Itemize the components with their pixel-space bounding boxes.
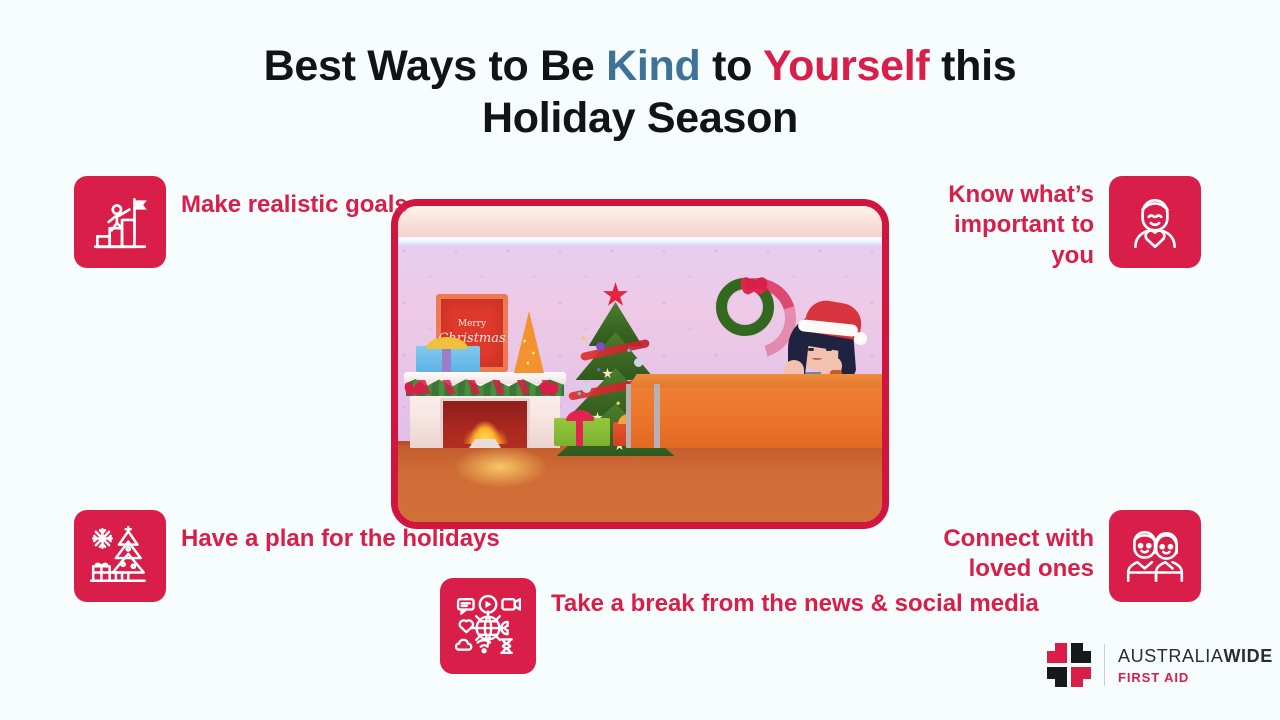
fireplace (410, 370, 560, 448)
logo-quadrant-bottom-left (1047, 667, 1067, 687)
tip-label: Connect with loved ones (912, 510, 1094, 585)
santa-hat-pompom (854, 332, 867, 345)
logo-name-part-2: WIDE (1223, 646, 1272, 666)
title-line-1: Best Ways to Be Kind to Yourself this (0, 40, 1280, 92)
title-highlight-kind: Kind (606, 42, 700, 90)
orange-desk (626, 374, 889, 448)
gift-band (442, 346, 451, 372)
logo-divider (1104, 644, 1105, 686)
logo-company-name: AUSTRALIAWIDE (1118, 646, 1273, 667)
firelight-glow (453, 446, 548, 488)
christmas-illustration: Merry Christmas (391, 199, 889, 529)
frame-text-line-1: Merry (458, 319, 486, 330)
tree-ornament (582, 384, 591, 393)
tip-have-a-plan[interactable]: Have a plan for the holidays (74, 510, 500, 602)
person-holding-heart-icon (1109, 176, 1201, 268)
logo-wordmark: AUSTRALIAWIDE FIRST AID (1118, 646, 1273, 685)
tree-ornament (634, 358, 643, 367)
woman-eye-left (808, 348, 814, 351)
tip-label: Take a break from the news & social medi… (551, 578, 1039, 619)
tip-label: Have a plan for the holidays (181, 510, 500, 554)
ceiling (398, 206, 882, 237)
logo-tagline: FIRST AID (1118, 670, 1273, 685)
logo-quadrant-top-left (1047, 643, 1067, 663)
title-text-b: to (700, 42, 763, 90)
decorative-cone-tree (514, 311, 544, 373)
fireplace-opening (440, 398, 530, 448)
illustration-scene: Merry Christmas (398, 206, 882, 522)
christmas-tree-gifts-snowflake-icon (74, 510, 166, 602)
person-climbing-stairs-with-flag-icon (74, 176, 166, 268)
title-text-a: Best Ways to Be (264, 42, 606, 90)
australia-wide-first-aid-logo[interactable]: AUSTRALIAWIDE FIRST AID (1047, 643, 1273, 687)
wreath-bow (741, 277, 767, 294)
tree-ornament (596, 342, 605, 351)
logo-quadrant-bottom-right (1071, 667, 1091, 687)
woman-mouth (812, 356, 822, 360)
page-title: Best Ways to Be Kind to Yourself this Ho… (0, 40, 1280, 145)
tip-take-a-break[interactable]: Take a break from the news & social medi… (440, 578, 1039, 674)
blue-gift-on-mantel (416, 346, 480, 372)
tip-label: Make realistic goals (181, 176, 408, 220)
logo-name-part-1: AUSTRALIA (1118, 646, 1223, 666)
christmas-wreath (716, 278, 774, 336)
title-text-c: this (929, 42, 1016, 90)
desk-edge-inner (654, 384, 660, 448)
social-media-network-globe-icon (440, 578, 536, 674)
cornice-molding (398, 237, 882, 245)
fire-flames (458, 404, 512, 444)
garland-bow-right (540, 382, 558, 395)
gift-band (576, 418, 583, 446)
title-line-2: Holiday Season (0, 92, 1280, 144)
title-highlight-yourself: Yourself (763, 42, 929, 90)
two-people-icon (1109, 510, 1201, 602)
desk-edge-outer (626, 384, 631, 448)
first-aid-cross-pinwheel-icon (1047, 643, 1091, 687)
green-gift-box (554, 418, 610, 446)
tip-know-whats-important[interactable]: Know what’s important to you (912, 176, 1201, 271)
tip-label: Know what’s important to you (912, 176, 1094, 271)
tip-make-realistic-goals[interactable]: Make realistic goals (74, 176, 408, 268)
logo-quadrant-top-right (1071, 643, 1091, 663)
desk-front (626, 388, 889, 448)
garland-bow-left (405, 382, 423, 395)
